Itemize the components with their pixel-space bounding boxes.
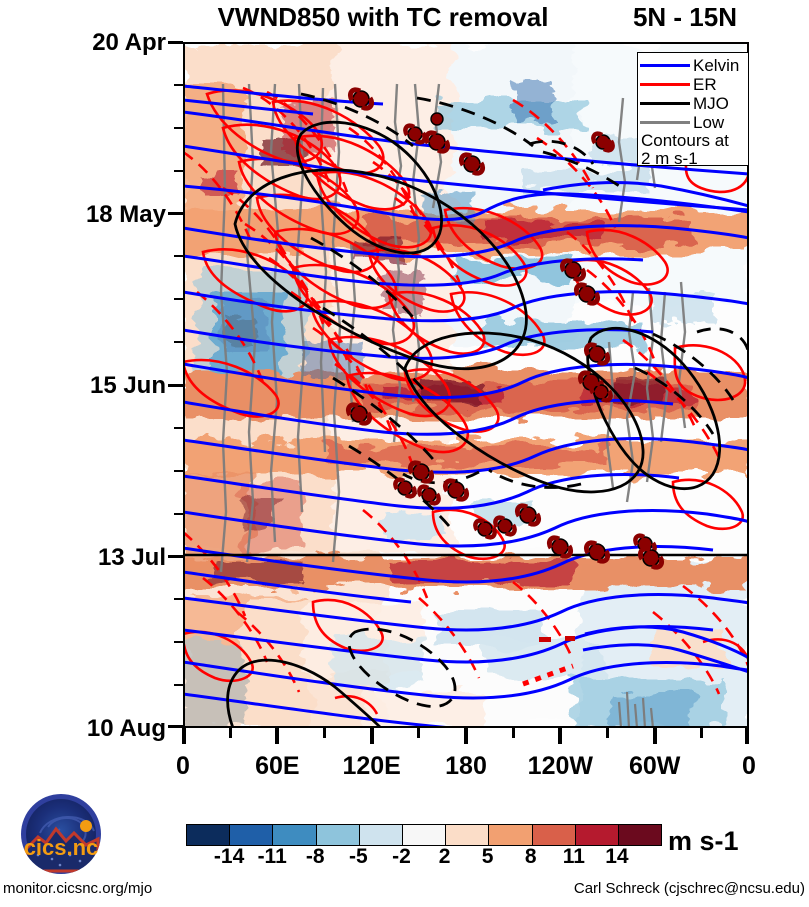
x-axis-tick — [182, 728, 186, 744]
low-line-swatch — [640, 121, 690, 124]
er-line-swatch — [640, 83, 690, 86]
legend-entry-mjo: MJO — [640, 94, 748, 113]
x-axis-tick — [464, 728, 468, 744]
y-axis-tick — [174, 513, 183, 515]
y-axis-tick — [174, 641, 183, 643]
colorbar-tick-label: 8 — [509, 845, 553, 869]
kelvin-line-swatch — [640, 64, 690, 67]
y-axis-tick — [174, 341, 183, 343]
y-axis-tick — [174, 470, 183, 472]
footer-author[interactable]: Carl Schreck (cjschrec@ncsu.edu) — [574, 880, 805, 897]
y-axis-tick — [168, 725, 183, 728]
colorbar-swatch[interactable] — [316, 825, 359, 845]
colorbar-swatch[interactable] — [445, 825, 488, 845]
y-axis-tick-label: 13 Jul — [16, 544, 166, 572]
legend-entry-low: Low — [640, 113, 748, 132]
y-axis-tick — [174, 598, 183, 600]
contour-interval-note: Contours at 2 m s-1 — [640, 132, 748, 167]
colorbar-tick-label: 5 — [466, 845, 510, 869]
cics-nc-logo[interactable]: cics.nc — [8, 793, 114, 876]
x-axis-tick — [700, 728, 703, 738]
legend-label-kelvin: Kelvin — [693, 57, 739, 74]
colorbar-tick-label: -11 — [250, 845, 294, 869]
legend-label-low: Low — [693, 114, 724, 131]
colorbar-swatch[interactable] — [272, 825, 315, 845]
x-axis-tick — [229, 728, 232, 738]
colorbar-swatch[interactable] — [402, 825, 445, 845]
y-axis-tick — [174, 170, 183, 172]
y-axis-tick-label: 18 May — [16, 201, 166, 229]
colorbar-tick-label: -5 — [336, 845, 380, 869]
colorbar-tick-label: -14 — [207, 845, 251, 869]
x-axis-tick — [606, 728, 609, 738]
x-axis-tick — [653, 728, 657, 744]
colorbar-tick-label: 11 — [552, 845, 596, 869]
y-axis-tick — [168, 384, 183, 387]
footer-url[interactable]: monitor.cicsnc.org/mjo — [3, 880, 152, 897]
colorbar-tick-label: 14 — [595, 845, 639, 869]
colorbar-tick-label: 2 — [423, 845, 467, 869]
colorbar-swatch[interactable] — [575, 825, 618, 845]
y-axis-labels: 20 Apr18 May15 Jun13 Jul10 Aug — [14, 42, 166, 728]
colorbar[interactable] — [186, 824, 662, 846]
x-axis-tick — [370, 728, 374, 744]
colorbar-swatch[interactable] — [359, 825, 402, 845]
colorbar-swatch[interactable] — [229, 825, 272, 845]
colorbar-swatch[interactable] — [488, 825, 531, 845]
colorbar-swatch[interactable] — [532, 825, 575, 845]
colorbar-unit-label: m s-1 — [668, 826, 739, 857]
y-axis-tick — [174, 298, 183, 300]
y-axis-tick — [174, 84, 183, 86]
page-title: VWND850 with TC removal — [183, 0, 583, 34]
colorbar-tick-label: -2 — [379, 845, 423, 869]
y-axis-tick — [168, 41, 183, 44]
y-axis-tick — [168, 212, 183, 215]
y-axis-tick — [174, 684, 183, 686]
mjo-line-swatch — [640, 102, 690, 105]
x-axis-tick — [745, 728, 749, 744]
logo-wordmark: cics.nc — [24, 835, 99, 860]
y-axis-tick — [168, 555, 183, 558]
legend-label-er: ER — [693, 76, 717, 93]
legend-entry-kelvin: Kelvin — [640, 56, 748, 75]
legend-entry-er: ER — [640, 75, 748, 94]
y-axis-tick — [174, 427, 183, 429]
y-axis-tick-label: 15 Jun — [16, 372, 166, 400]
x-axis-ticks — [183, 728, 749, 744]
legend-label-mjo: MJO — [693, 95, 729, 112]
contour-legend: Kelvin ER MJO Low Contours at 2 m s-1 — [637, 52, 749, 166]
y-axis-tick — [174, 255, 183, 257]
contour-note-line1: Contours at — [641, 132, 748, 150]
x-axis-tick — [323, 728, 326, 738]
y-axis-tick-label: 20 Apr — [16, 29, 166, 57]
x-axis-tick — [558, 728, 562, 744]
x-axis-tick — [512, 728, 515, 738]
colorbar-ticks: -14-11-8-5-22581114 — [186, 845, 660, 871]
colorbar-swatch[interactable] — [618, 825, 661, 845]
colorbar-tick-label: -8 — [293, 845, 337, 869]
logo-sun — [80, 820, 92, 832]
x-axis-tick — [417, 728, 420, 738]
y-axis-tick — [174, 127, 183, 129]
x-axis-tick-label: 0 — [689, 752, 809, 781]
y-axis-ticks — [168, 42, 183, 728]
x-axis-tick — [275, 728, 279, 744]
contour-note-line2: 2 m s-1 — [641, 150, 748, 168]
x-axis-labels: 060E120E180120W60W0 — [183, 752, 749, 786]
latitude-subtitle: 5N - 15N — [600, 0, 770, 34]
colorbar-swatch[interactable] — [187, 825, 229, 845]
y-axis-tick-label: 10 Aug — [16, 715, 166, 743]
